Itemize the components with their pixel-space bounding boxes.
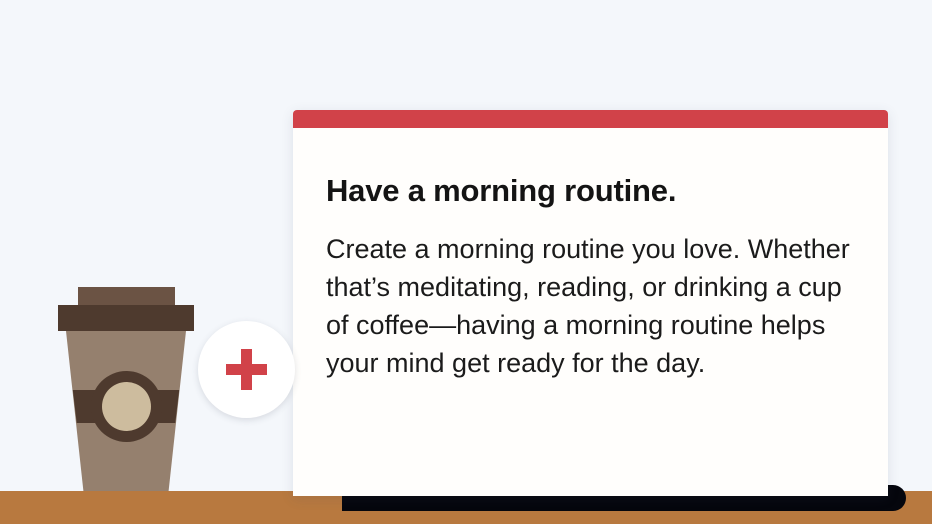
card-body-text: Create a morning routine you love. Wheth… — [326, 208, 866, 382]
cup-lid-rim — [58, 305, 194, 331]
plus-icon-vertical — [241, 349, 252, 390]
card-content: Have a morning routine. Create a morning… — [326, 128, 868, 382]
card-title: Have a morning routine. — [326, 128, 868, 208]
coffee-cup-illustration — [40, 280, 220, 495]
tip-card: Have a morning routine. Create a morning… — [293, 110, 888, 496]
tip-card-scene: Have a morning routine. Create a morning… — [0, 0, 932, 524]
cup-lid-top — [78, 287, 175, 306]
cup-logo-inner — [102, 382, 151, 431]
card-accent-bar — [293, 110, 888, 128]
plus-badge[interactable] — [198, 321, 295, 418]
